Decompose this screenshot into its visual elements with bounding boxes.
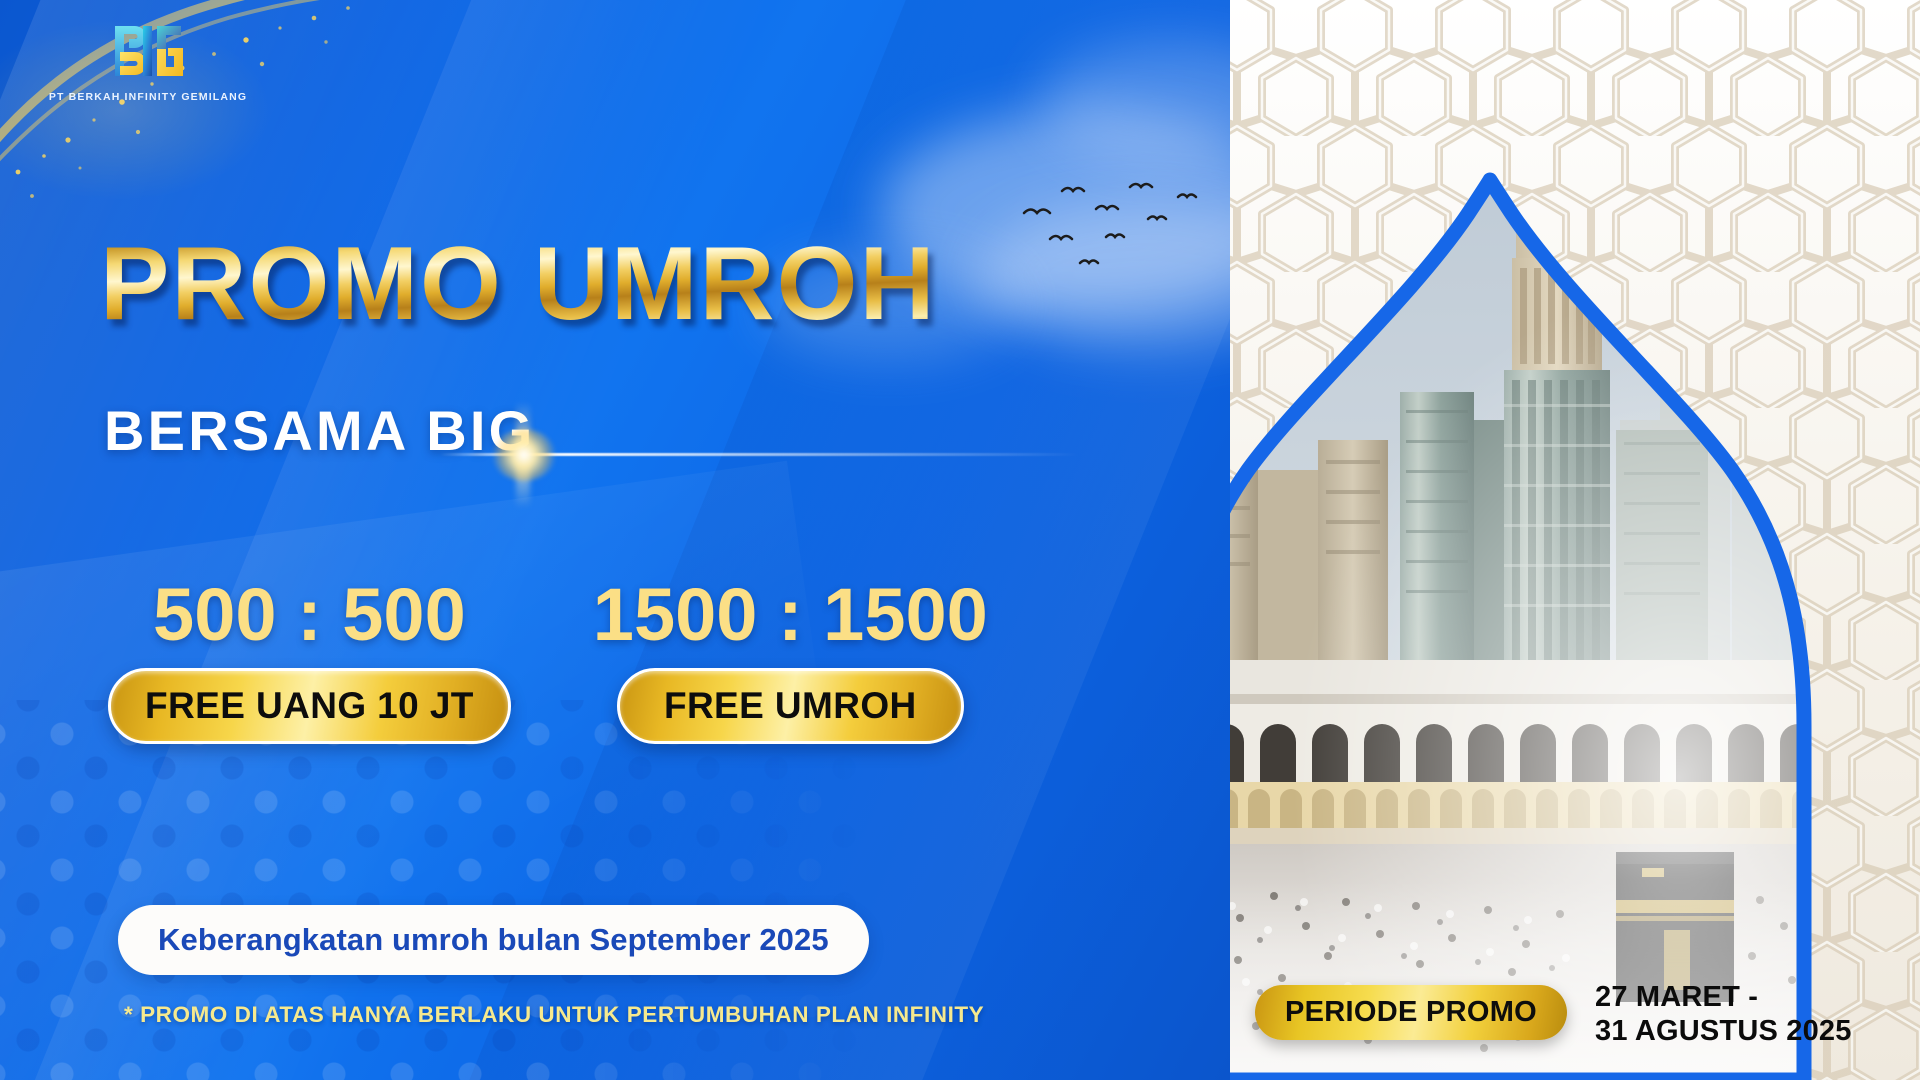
offer-item: 1500 : 1500 FREE UMROH xyxy=(593,578,988,744)
promo-period-badge: PERIODE PROMO xyxy=(1255,985,1567,1040)
promo-period-dates: 27 MARET - 31 AGUSTUS 2025 xyxy=(1595,980,1852,1048)
promo-banner: PT BERKAH INFINITY GEMILANG PROMO UMROH … xyxy=(0,0,1920,1080)
brand-logo[interactable]: PT BERKAH INFINITY GEMILANG xyxy=(38,18,258,103)
offers-group: 500 : 500 FREE UANG 10 JT 1500 : 1500 FR… xyxy=(108,578,988,744)
promo-date-line-2: 31 AGUSTUS 2025 xyxy=(1595,1014,1852,1048)
big-monogram-logo-icon xyxy=(105,18,191,84)
page-title: PROMO UMROH xyxy=(100,232,937,336)
offer-reward-badge[interactable]: FREE UMROH xyxy=(617,668,964,744)
offer-ratio: 1500 : 1500 xyxy=(593,578,988,652)
lens-flare-icon xyxy=(440,420,1080,490)
offer-item: 500 : 500 FREE UANG 10 JT xyxy=(108,578,511,744)
promo-footnote: * PROMO DI ATAS HANYA BERLAKU UNTUK PERT… xyxy=(124,1002,984,1028)
company-name: PT BERKAH INFINITY GEMILANG xyxy=(38,91,258,103)
page-subtitle: BERSAMA BIG xyxy=(104,398,535,463)
promo-date-line-1: 27 MARET - xyxy=(1595,980,1852,1014)
flying-birds-icon xyxy=(1010,175,1210,285)
departure-banner: Keberangkatan umroh bulan September 2025 xyxy=(118,905,869,975)
offer-reward-badge[interactable]: FREE UANG 10 JT xyxy=(108,668,511,744)
left-content-panel: PT BERKAH INFINITY GEMILANG PROMO UMROH … xyxy=(0,0,1230,1080)
offer-ratio: 500 : 500 xyxy=(153,578,466,652)
